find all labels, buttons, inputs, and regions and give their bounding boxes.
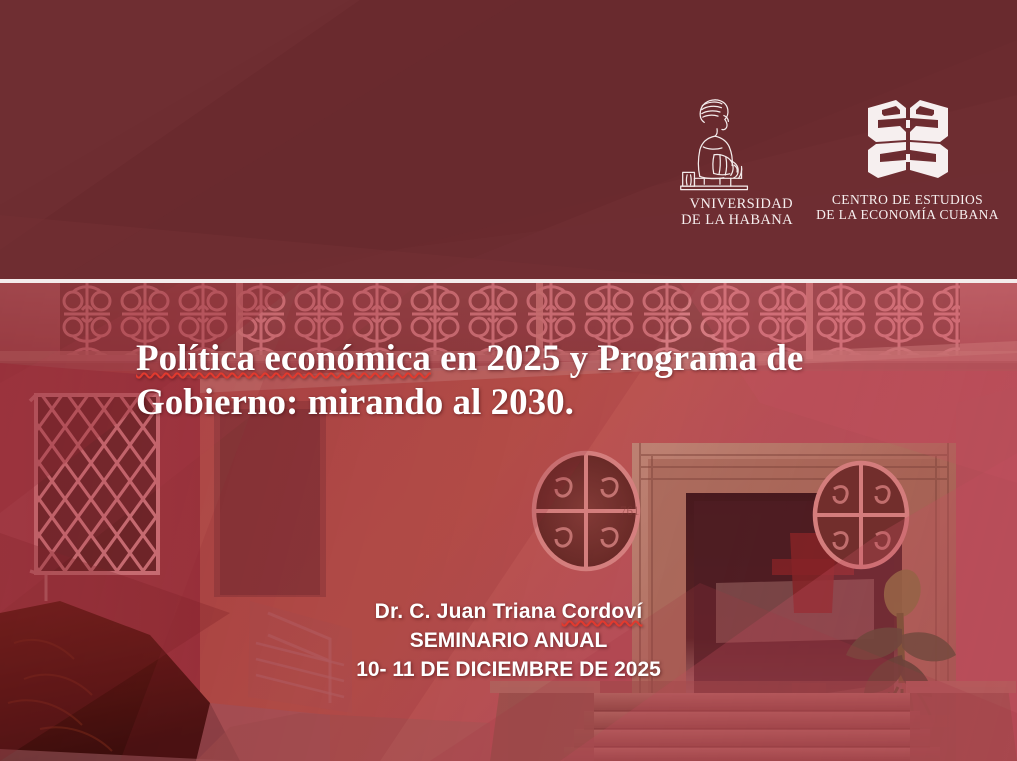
logo-uh-caption-line-1: VNIVERSIDAD	[630, 196, 793, 212]
byline-presenter-prefix: Dr. C. Juan Triana	[375, 600, 562, 623]
slide-byline: Dr. C. Juan Triana Cordoví SEMINARIO ANU…	[0, 597, 1017, 684]
logo-ceec-caption-line-1: CENTRO DE ESTUDIOS	[805, 192, 1010, 207]
slide-title: Política económica en 2025 y Programa de…	[136, 337, 876, 425]
ceec-monogram-icon	[866, 98, 950, 184]
logo-ceec: CENTRO DE ESTUDIOS DE LA ECONOMÍA CUBANA	[805, 92, 1010, 222]
slide-title-line-2: Gobierno: mirando al 2030.	[136, 381, 876, 425]
logo-uh-caption: VNIVERSIDAD DE LA HABANA	[630, 196, 805, 228]
header-divider-rule	[0, 279, 1017, 283]
slide-title-line-1: Política económica en 2025 y Programa de	[136, 337, 876, 381]
logo-universidad-de-la-habana: VNIVERSIDAD DE LA HABANA	[630, 92, 805, 228]
logo-row: VNIVERSIDAD DE LA HABANA	[630, 92, 1010, 242]
byline-dates: 10- 11 DE DICIEMBRE DE 2025	[0, 655, 1017, 684]
logo-uh-caption-line-2: DE LA HABANA	[630, 212, 793, 228]
slide-title-misspelled-phrase: Política económica	[136, 338, 431, 379]
title-slide: VNIVERSIDAD DE LA HABANA	[0, 0, 1017, 761]
slide-title-line-1-rest: en 2025 y Programa de	[431, 338, 803, 379]
byline-event: SEMINARIO ANUAL	[0, 626, 1017, 655]
logo-ceec-caption-line-2: DE LA ECONOMÍA CUBANA	[805, 207, 1010, 222]
byline-presenter-surname: Cordoví	[562, 600, 643, 623]
byline-presenter: Dr. C. Juan Triana Cordoví	[0, 597, 1017, 626]
logo-ceec-caption: CENTRO DE ESTUDIOS DE LA ECONOMÍA CUBANA	[805, 192, 1010, 222]
alma-mater-seated-figure-icon	[668, 92, 768, 194]
